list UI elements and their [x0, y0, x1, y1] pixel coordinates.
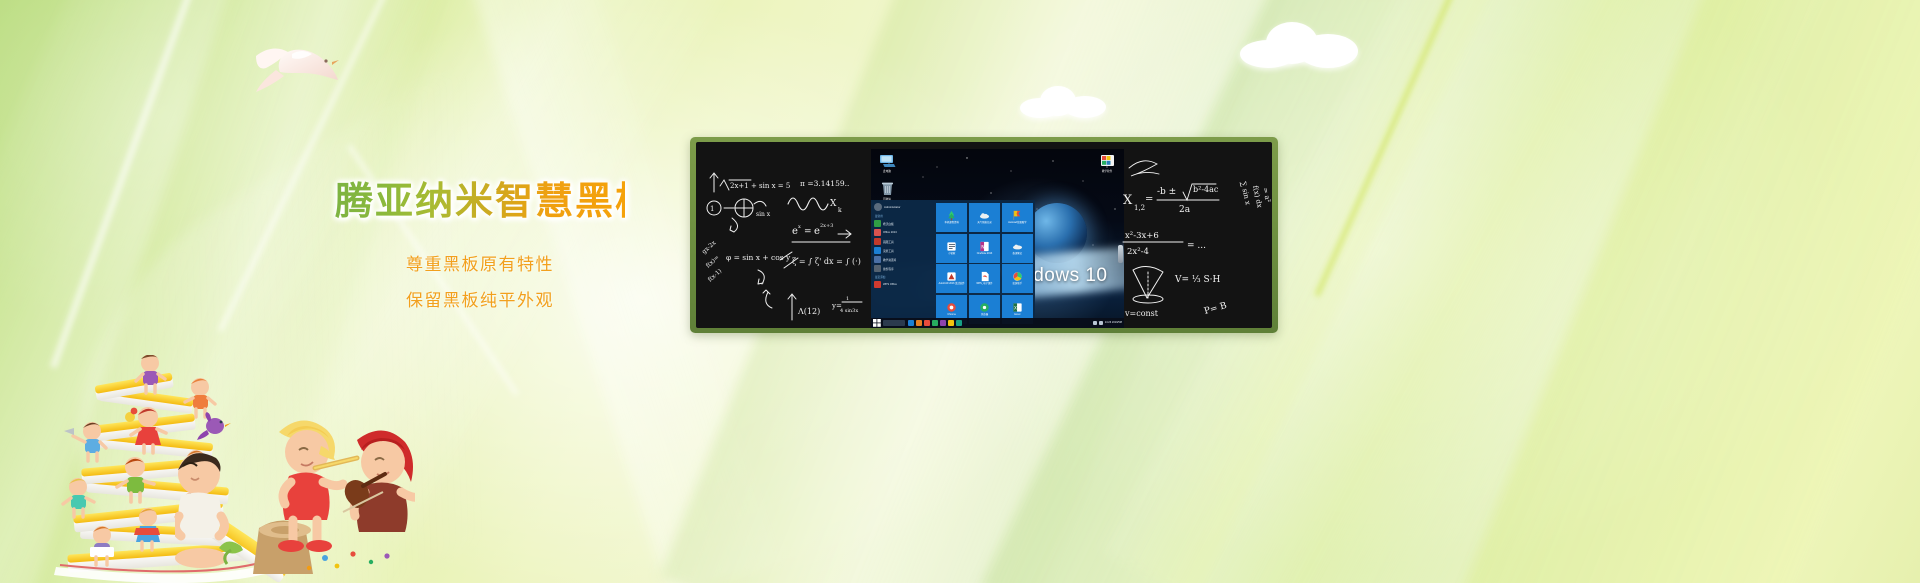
text-icon: [946, 241, 957, 252]
network-icon[interactable]: [1093, 321, 1097, 325]
svg-text:v=const: v=const: [1124, 309, 1159, 318]
taskbar-search-input[interactable]: [883, 320, 905, 326]
flying-dove-icon: [246, 28, 342, 94]
app-label: 录屏工具: [883, 249, 894, 253]
flute-girl: [278, 420, 357, 552]
tile-label: WPS_电子课件: [975, 283, 993, 286]
svg-text:V= ⅓ S·H: V= ⅓ S·H: [1174, 275, 1221, 285]
svg-text:Λ(12): Λ(12): [797, 307, 820, 316]
app-icon: [874, 238, 881, 245]
chrome-icon: [946, 302, 957, 313]
start-tile[interactable]: 本机课程资料: [936, 203, 967, 232]
browser-icon: [979, 302, 990, 313]
app-icon: [874, 220, 881, 227]
tile-label: 本机课程资料: [943, 222, 959, 225]
app-label: Office 2013: [883, 231, 897, 234]
taskbar-app-icon[interactable]: [908, 320, 914, 326]
taskbar-pinned-apps: [908, 320, 962, 326]
tile-label: 小管家: [947, 253, 956, 256]
user-name: Administrator: [884, 205, 900, 209]
excel-icon: X: [1012, 302, 1023, 313]
app-icon: [874, 229, 881, 236]
promo-banner: 腾亚纳米智慧黑板 尊重黑板原有特性 保留黑板纯平外观 2x+1 + sin x …: [0, 0, 1920, 583]
start-menu-user[interactable]: Administrator: [874, 203, 933, 211]
app-icon: [874, 247, 881, 254]
start-menu-item[interactable]: 录屏工具: [874, 246, 933, 255]
start-menu-item[interactable]: 教学资源库: [874, 255, 933, 264]
start-menu-item[interactable]: 希沃白板: [874, 219, 933, 228]
share-icon: [1012, 271, 1023, 282]
start-menu-section-title: 最常用: [875, 214, 933, 218]
app-label: 教学资源库: [883, 258, 896, 262]
tree-icon: [946, 210, 957, 221]
start-tile[interactable]: 天气预报记录: [969, 203, 1000, 232]
tile-label: OneNote 2013: [976, 253, 994, 256]
computer-icon: [879, 153, 896, 168]
onenote-icon: N: [979, 241, 990, 252]
sitting-boy: [175, 453, 227, 568]
child-climber: [64, 422, 106, 461]
windows-desktop: 此电脑 回收站: [871, 149, 1124, 328]
start-menu-tiles: 本机课程资料 天气预报记录 Autocad草图教学: [935, 200, 1035, 328]
cloud-small: [1020, 84, 1106, 118]
start-button-icon[interactable]: [873, 319, 881, 327]
tile-label: Chrome: [946, 314, 957, 317]
svg-text:2x+1 + sin x = 5: 2x+1 + sin x = 5: [730, 182, 790, 190]
start-tile[interactable]: 备课笔记: [1002, 234, 1033, 263]
app-label: 希沃白板: [883, 222, 894, 226]
taskbar-app-icon[interactable]: [948, 320, 954, 326]
app-label: 画图工具: [883, 240, 894, 244]
desktop-icon-recycle-bin[interactable]: 回收站: [873, 181, 901, 201]
cloud-large: [1240, 18, 1360, 68]
confetti-dot: [322, 555, 328, 561]
page-title: 腾亚纳米智慧黑板: [335, 180, 625, 225]
paint-icon: [1099, 153, 1116, 168]
svg-text:φ = sin x + cos y: φ = sin x + cos y: [726, 253, 791, 262]
svg-text:=: =: [1145, 194, 1153, 205]
start-tile[interactable]: WPS_电子课件: [969, 264, 1000, 293]
volume-icon[interactable]: [1099, 321, 1103, 325]
cad-icon: [946, 271, 957, 282]
start-menu-app-list: Administrator 最常用 希沃白板 Office 2013 画图工具 …: [871, 200, 935, 328]
svg-text:-b ±: -b ±: [1157, 187, 1176, 197]
svg-text:π =3.14159..: π =3.14159..: [800, 179, 849, 188]
app-label: WPS Office: [883, 283, 897, 286]
start-menu-item[interactable]: 备份程序: [874, 264, 933, 273]
subtitle-line-2: 保留黑板纯平外观: [335, 283, 625, 319]
confetti-dot: [350, 551, 355, 556]
blackboard-surface: 2x+1 + sin x = 5 π =3.14159.. 1 sin x X …: [696, 142, 1272, 328]
smart-blackboard-device: 2x+1 + sin x = 5 π =3.14159.. 1 sin x X …: [690, 137, 1278, 333]
subtitle-line-1: 尊重黑板原有特性: [335, 247, 625, 283]
taskbar-app-icon[interactable]: [924, 320, 930, 326]
svg-text:sin x: sin x: [756, 211, 771, 218]
chalk-equations-left: 2x+1 + sin x = 5 π =3.14159.. 1 sin x X …: [696, 142, 871, 328]
desktop-icon-computer[interactable]: 此电脑: [873, 153, 901, 173]
avatar: [874, 203, 882, 211]
start-menu[interactable]: Administrator 最常用 希沃白板 Office 2013 画图工具 …: [871, 200, 1035, 328]
taskbar[interactable]: 14:26 2019/5/8: [871, 318, 1124, 328]
subtitle-group: 尊重黑板原有特性 保留黑板纯平外观: [335, 247, 625, 318]
taskbar-app-icon[interactable]: [940, 320, 946, 326]
tile-label: AutoCAD 2016 激活软件: [938, 283, 966, 286]
svg-text:4 sin3x: 4 sin3x: [840, 308, 858, 314]
recycle-bin-icon: [879, 181, 896, 196]
svg-text:2x+3: 2x+3: [820, 223, 833, 229]
desktop-icon-label: 此电脑: [873, 170, 901, 173]
start-tile[interactable]: Autocad草图教学: [1002, 203, 1033, 232]
children-musicians-illustration: [175, 370, 415, 583]
start-tile[interactable]: AutoCAD 2016 激活软件: [936, 264, 967, 293]
svg-text:1: 1: [846, 296, 849, 302]
start-menu-item[interactable]: 画图工具: [874, 237, 933, 246]
svg-text:1,2: 1,2: [1134, 204, 1145, 212]
svg-text:b²-4ac: b²-4ac: [1193, 185, 1219, 194]
app-icon: [874, 281, 881, 288]
start-menu-section-title: 最近添加: [875, 275, 933, 279]
svg-text:f(x-1): f(x-1): [707, 268, 724, 284]
pdf-icon: [979, 271, 990, 282]
tile-label: Autocad草图教学: [1007, 222, 1027, 225]
tile-label: Excel: [1013, 314, 1021, 317]
tile-label: 投屏助手: [1012, 283, 1024, 286]
svg-text:X: X: [1014, 305, 1017, 310]
taskbar-app-icon[interactable]: [956, 320, 962, 326]
svg-text:k: k: [838, 207, 842, 214]
cloud-icon: [1012, 241, 1023, 252]
flag-icon: [1012, 210, 1023, 221]
taskbar-app-icon[interactable]: [932, 320, 938, 326]
svg-text:X: X: [1123, 193, 1133, 208]
confetti-dot: [335, 564, 340, 569]
purple-bird-icon: [197, 412, 231, 440]
cloud-icon: [979, 210, 990, 221]
tile-label: 天气预报记录: [976, 222, 992, 225]
tile-label: 备课笔记: [1012, 253, 1024, 256]
svg-text:x²-3x+6: x²-3x+6: [1125, 231, 1159, 241]
chalk-equations-right: X 1,2 = -b ± b²-4ac 2a x²-3x+6 2x²-4 = .…: [1117, 142, 1272, 328]
svg-text:X: X: [830, 199, 837, 209]
svg-text:f(x)=: f(x)=: [705, 254, 721, 269]
svg-text:=: =: [804, 227, 812, 237]
start-tile[interactable]: 小管家: [936, 234, 967, 263]
svg-text:ζ = ∫ ζ' dx = ∫ (·): ζ = ∫ ζ' dx = ∫ (·): [792, 257, 861, 266]
confetti-dot: [307, 566, 311, 570]
svg-text:2a: 2a: [1179, 205, 1191, 215]
tile-label: 浏览器: [980, 314, 989, 317]
svg-text:∑ sin x: ∑ sin x: [1239, 181, 1252, 206]
blackboard-frame: 2x+1 + sin x = 5 π =3.14159.. 1 sin x X …: [690, 137, 1278, 333]
start-tile[interactable]: N OneNote 2013: [969, 234, 1000, 263]
start-tile[interactable]: 投屏助手: [1002, 264, 1033, 293]
svg-text:gx-2x: gx-2x: [701, 239, 718, 256]
svg-text:2x²-4: 2x²-4: [1127, 247, 1149, 257]
confetti-dot: [369, 560, 373, 564]
svg-text:x: x: [798, 224, 801, 230]
start-menu-item[interactable]: Office 2013: [874, 228, 933, 237]
app-icon: [874, 256, 881, 263]
confetti-dot: [384, 553, 389, 558]
svg-text:P= B: P= B: [1203, 301, 1228, 317]
start-menu-item[interactable]: WPS Office: [874, 280, 933, 289]
copy-block: 腾亚纳米智慧黑板 尊重黑板原有特性 保留黑板纯平外观: [335, 180, 625, 318]
svg-text:N: N: [981, 244, 984, 250]
svg-text:= ...: = ...: [1187, 241, 1206, 251]
taskbar-app-icon[interactable]: [916, 320, 922, 326]
app-icon: [874, 265, 881, 272]
svg-text:1: 1: [710, 205, 714, 213]
app-label: 备份程序: [883, 267, 894, 271]
